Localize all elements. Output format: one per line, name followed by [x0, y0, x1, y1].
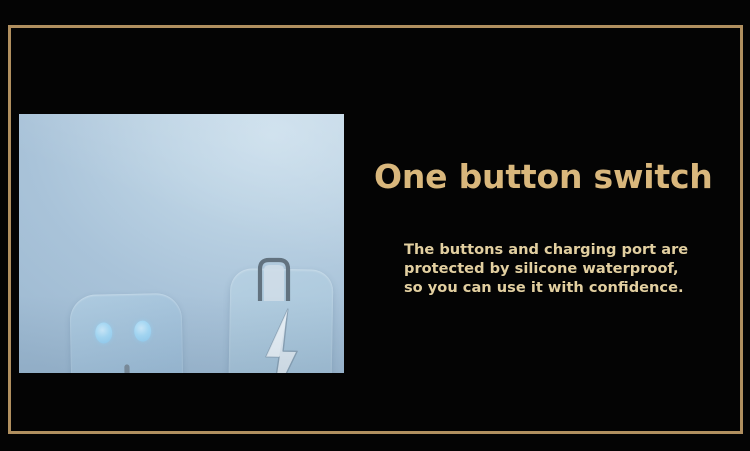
- description-text: The buttons and charging port are protec…: [404, 240, 726, 297]
- led-indicator-left: [95, 322, 112, 343]
- metal-tab-hook-icon: [255, 257, 291, 303]
- description-line: protected by silicone waterproof,: [404, 259, 726, 278]
- page-title: One button switch: [374, 157, 713, 197]
- lightning-bolt-icon: [256, 307, 306, 373]
- power-icon: [101, 361, 154, 373]
- led-indicator-right: [134, 320, 151, 341]
- product-feature-banner: One button switch The buttons and chargi…: [0, 0, 750, 451]
- description-line: so you can use it with confidence.: [404, 278, 726, 297]
- description-line: The buttons and charging port are: [404, 240, 726, 259]
- product-photo: [19, 114, 344, 373]
- power-button-pad: [69, 293, 184, 373]
